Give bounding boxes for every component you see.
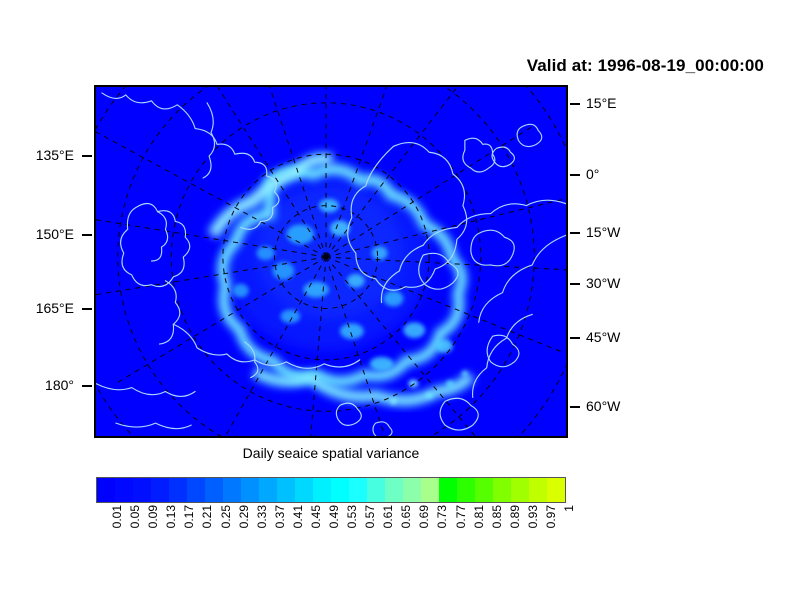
colorbar-caption: Daily seaice spatial variance: [94, 445, 568, 461]
axis-label-right-0: 0°: [586, 166, 599, 182]
colorbar-band: [115, 478, 133, 502]
colorbar-tick-label: 0.25: [219, 505, 233, 528]
colorbar-tick-label: 0.41: [291, 505, 305, 528]
colorbar-band: [133, 478, 151, 502]
colorbar-band: [385, 478, 403, 502]
tick-mark-left-135e: [82, 155, 92, 157]
axis-label-left-135e: 135°E: [36, 147, 74, 163]
tick-mark-left-150e: [82, 234, 92, 236]
colorbar-band: [439, 478, 457, 502]
colorbar-band: [169, 478, 187, 502]
colorbar-band: [241, 478, 259, 502]
colorbar-tick-label: 0.65: [399, 505, 413, 528]
colorbar-tick-label: 0.45: [309, 505, 323, 528]
colorbar-tick-label: 0.85: [490, 505, 504, 528]
colorbar-tick-label: 0.09: [146, 505, 160, 528]
tick-mark-right-15e: [570, 103, 580, 105]
axis-label-right-30w: 30°W: [586, 275, 620, 291]
colorbar-tick-label: 0.61: [381, 505, 395, 528]
colorbar-gradient: [96, 477, 566, 503]
colorbar-band: [493, 478, 511, 502]
colorbar-tick-label: 1: [562, 505, 576, 512]
colorbar-tick-label: 0.01: [110, 505, 124, 528]
colorbar-tick-label: 0.33: [255, 505, 269, 528]
colorbar-tick-label: 0.97: [544, 505, 558, 528]
colorbar-tick-label: 0.37: [273, 505, 287, 528]
colorbar-band: [547, 478, 565, 502]
axis-label-left-150e: 150°E: [36, 226, 74, 242]
tick-mark-left-180: [82, 385, 92, 387]
colorbar[interactable]: [96, 477, 566, 503]
tick-mark-right-30w: [570, 283, 580, 285]
colorbar-band: [511, 478, 529, 502]
colorbar-tick-label: 0.29: [237, 505, 251, 528]
colorbar-band: [421, 478, 439, 502]
colorbar-band: [259, 478, 277, 502]
colorbar-band: [313, 478, 331, 502]
colorbar-band: [205, 478, 223, 502]
colorbar-tick-label: 0.73: [435, 505, 449, 528]
colorbar-band: [277, 478, 295, 502]
colorbar-band: [367, 478, 385, 502]
colorbar-tick-label: 0.77: [454, 505, 468, 528]
colorbar-band: [403, 478, 421, 502]
axis-label-right-60w: 60°W: [586, 398, 620, 414]
axis-label-left-165e: 165°E: [36, 300, 74, 316]
colorbar-tick-label: 0.81: [472, 505, 486, 528]
colorbar-band: [529, 478, 547, 502]
colorbar-band: [457, 478, 475, 502]
colorbar-tick-label: 0.13: [164, 505, 178, 528]
colorbar-tick-label: 0.49: [327, 505, 341, 528]
colorbar-tick-label: 0.53: [345, 505, 359, 528]
axis-label-left-180: 180°: [45, 377, 74, 393]
colorbar-tick-label: 0.89: [508, 505, 522, 528]
tick-mark-right-0: [570, 174, 580, 176]
map-svg: [96, 87, 566, 436]
tick-mark-right-15w: [570, 232, 580, 234]
colorbar-band: [187, 478, 205, 502]
tick-mark-right-60w: [570, 406, 580, 408]
colorbar-band: [97, 478, 115, 502]
colorbar-band: [475, 478, 493, 502]
axis-label-right-15w: 15°W: [586, 224, 620, 240]
colorbar-tick-label: 0.21: [200, 505, 214, 528]
page-title: Valid at: 1996-08-19_00:00:00: [527, 56, 764, 76]
axis-label-right-45w: 45°W: [586, 329, 620, 345]
map-canvas[interactable]: [94, 85, 568, 438]
colorbar-band: [349, 478, 367, 502]
colorbar-tick-labels: 0.010.050.090.130.170.210.250.290.330.37…: [96, 505, 566, 565]
colorbar-tick-label: 0.57: [363, 505, 377, 528]
colorbar-band: [151, 478, 169, 502]
colorbar-band: [331, 478, 349, 502]
colorbar-tick-label: 0.93: [526, 505, 540, 528]
colorbar-band: [223, 478, 241, 502]
tick-mark-left-165e: [82, 308, 92, 310]
axis-label-right-15e: 15°E: [586, 95, 617, 111]
colorbar-tick-label: 0.05: [128, 505, 142, 528]
colorbar-band: [295, 478, 313, 502]
colorbar-tick-label: 0.17: [182, 505, 196, 528]
tick-mark-right-45w: [570, 337, 580, 339]
colorbar-tick-label: 0.69: [417, 505, 431, 528]
